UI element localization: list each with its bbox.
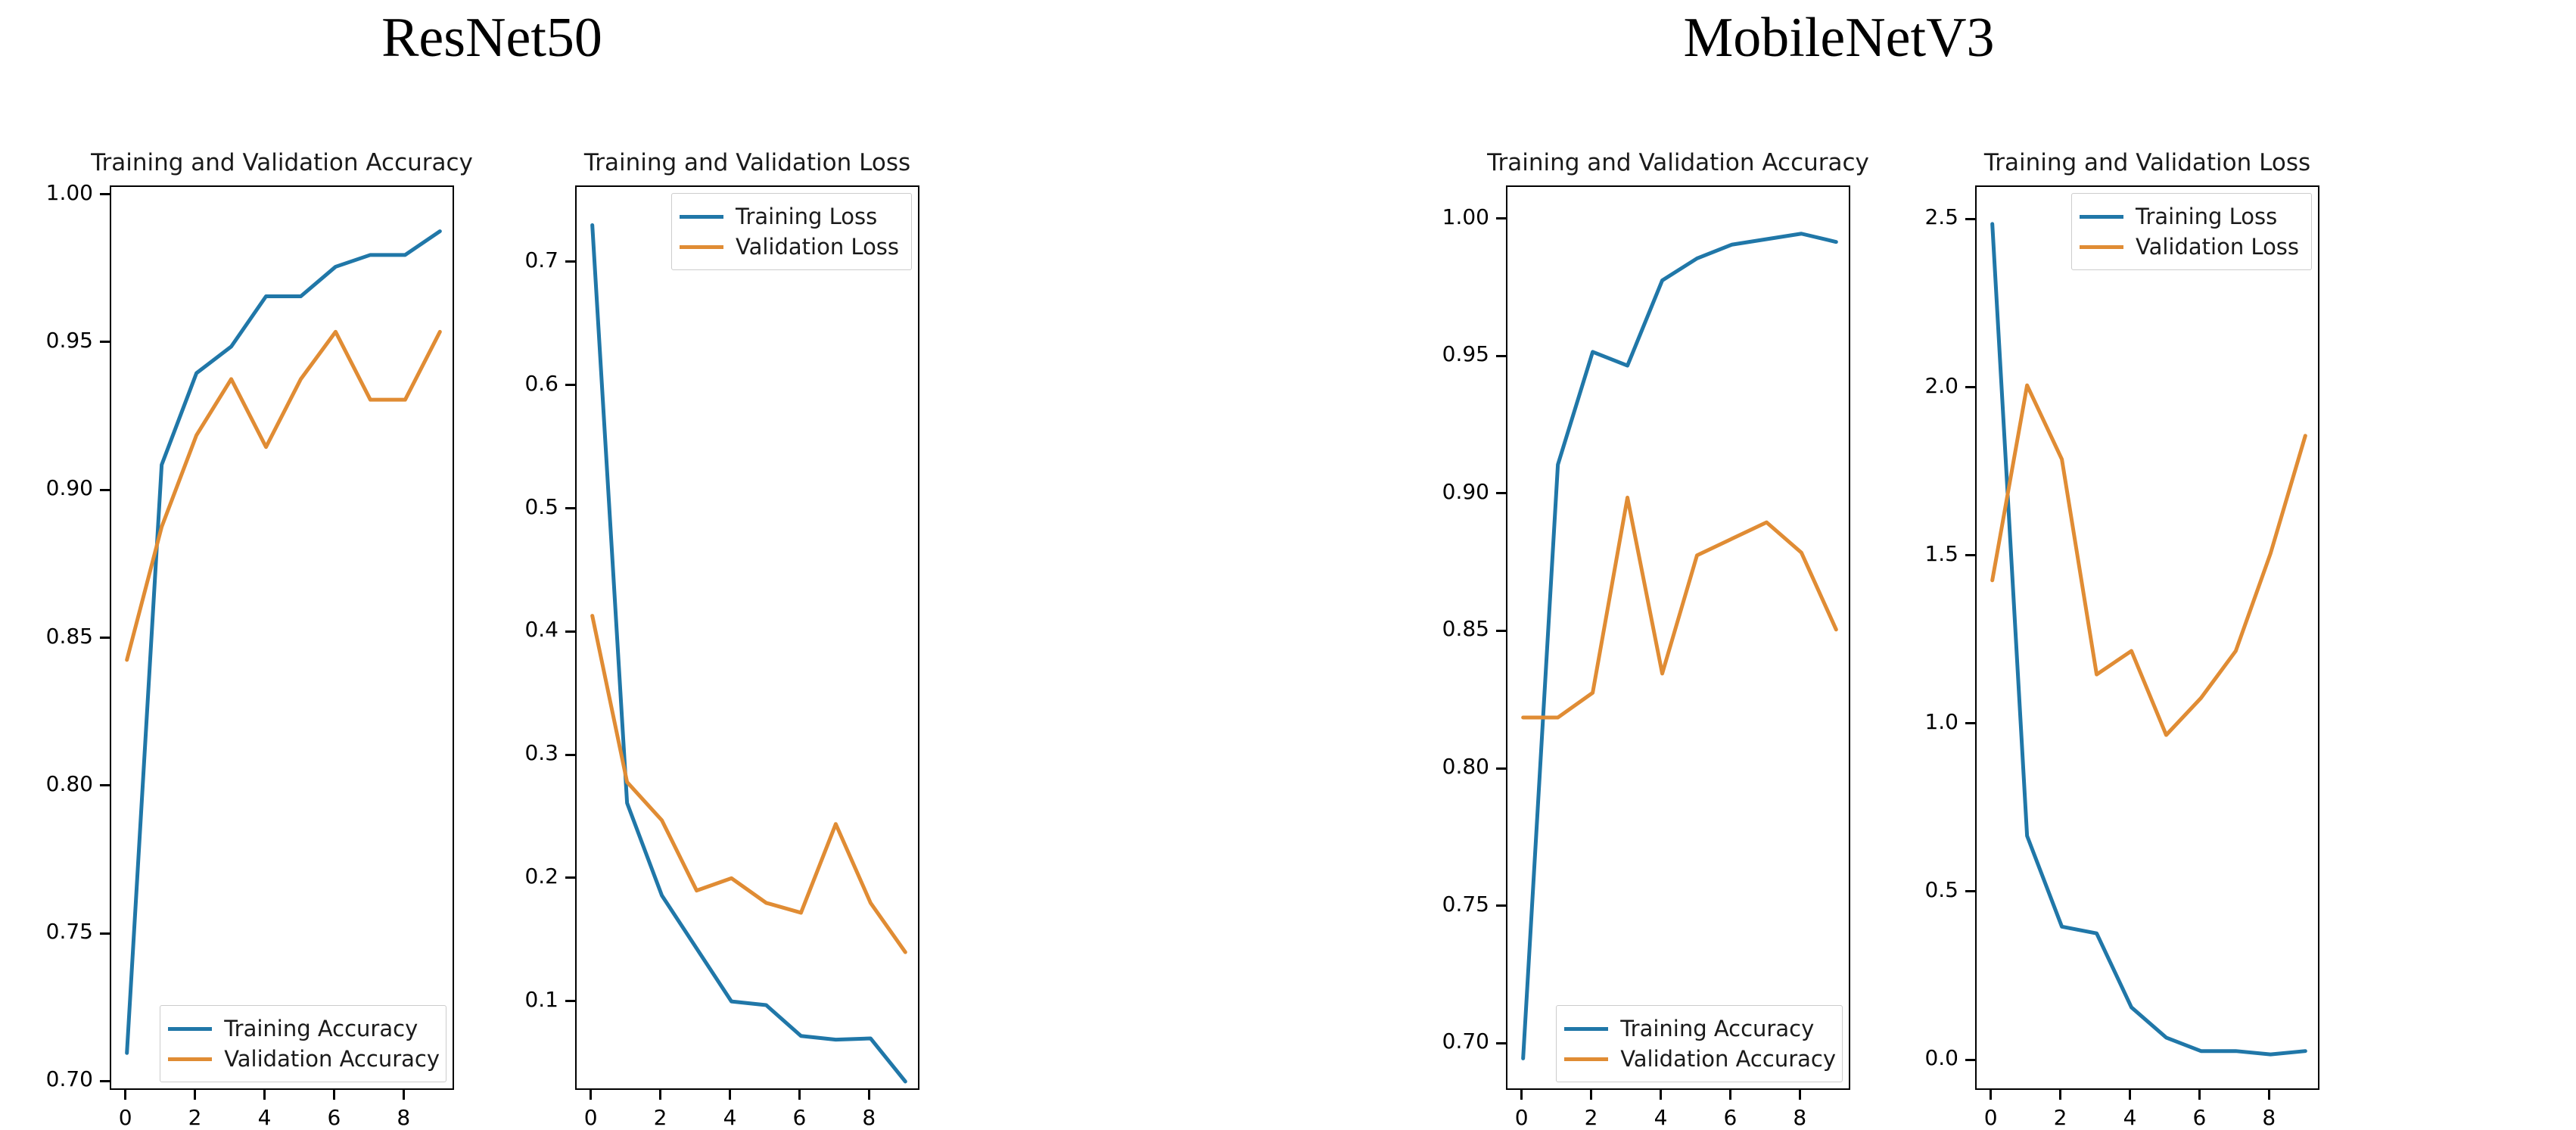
x-tick-label: 4 — [1623, 1105, 1699, 1130]
x-tickmark — [1799, 1090, 1801, 1100]
y-tick-label: 0.5 — [1854, 877, 1958, 902]
x-tick-label: 2 — [1554, 1105, 1629, 1130]
y-tick-label: 0.70 — [1385, 1029, 1489, 1054]
legend-item[interactable]: Training Accuracy — [1564, 1013, 1831, 1044]
y-tick-label: 0.90 — [1385, 479, 1489, 504]
x-tickmark — [2129, 1090, 2131, 1100]
y-tick-label: 0.75 — [0, 919, 93, 944]
legend-color-swatch-icon — [1564, 1057, 1608, 1061]
chart-legend-resnet50-accuracy[interactable]: Training AccuracyValidation Accuracy — [160, 1005, 446, 1082]
y-tick-label: 0.1 — [454, 987, 558, 1012]
y-tickmark — [565, 754, 575, 756]
y-tickmark — [100, 341, 110, 343]
legend-label: Training Loss — [2136, 204, 2277, 229]
y-tick-label: 0.80 — [1385, 754, 1489, 779]
legend-label: Validation Loss — [736, 234, 899, 260]
legend-item[interactable]: Validation Loss — [2080, 232, 2301, 262]
plot-lines-mobilenetv3-loss — [1977, 187, 2321, 1091]
series-line-training-loss — [593, 225, 906, 1082]
y-tickmark — [565, 876, 575, 879]
legend-item[interactable]: Training Accuracy — [168, 1013, 435, 1044]
y-tickmark — [100, 1080, 110, 1082]
y-tickmark — [565, 260, 575, 263]
y-tickmark — [1965, 218, 1975, 220]
x-tick-label: 2 — [623, 1105, 698, 1130]
legend-label: Training Loss — [736, 204, 877, 229]
legend-item[interactable]: Validation Accuracy — [168, 1044, 435, 1074]
x-tick-label: 6 — [761, 1105, 837, 1130]
x-tickmark — [868, 1090, 870, 1100]
x-tickmark — [1660, 1090, 1662, 1100]
series-line-training-loss — [1993, 224, 2306, 1054]
x-tickmark — [590, 1090, 592, 1100]
chart-legend-mobilenetv3-loss[interactable]: Training LossValidation Loss — [2071, 193, 2312, 270]
plot-lines-mobilenetv3-accuracy — [1507, 187, 1852, 1091]
plot-area-resnet50-loss — [575, 185, 919, 1090]
legend-label: Validation Accuracy — [224, 1046, 440, 1072]
y-tick-label: 0.85 — [1385, 616, 1489, 641]
x-tick-label: 0 — [553, 1105, 629, 1130]
chart-legend-resnet50-loss[interactable]: Training LossValidation Loss — [671, 193, 912, 270]
y-tick-label: 0.75 — [1385, 892, 1489, 917]
series-line-validation-accuracy — [1523, 497, 1837, 718]
y-tick-label: 0.4 — [454, 617, 558, 642]
legend-color-swatch-icon — [168, 1027, 212, 1031]
x-tick-label: 6 — [2161, 1105, 2237, 1130]
x-tickmark — [729, 1090, 731, 1100]
x-tickmark — [798, 1090, 801, 1100]
legend-label: Training Accuracy — [1620, 1016, 1814, 1041]
y-tickmark — [1965, 890, 1975, 892]
legend-item[interactable]: Training Loss — [680, 201, 901, 232]
chart-title-resnet50-loss: Training and Validation Loss — [492, 149, 1003, 176]
y-tickmark — [100, 932, 110, 935]
y-tickmark — [1496, 217, 1506, 219]
x-tick-label: 6 — [1692, 1105, 1768, 1130]
chart-legend-mobilenetv3-accuracy[interactable]: Training AccuracyValidation Accuracy — [1556, 1005, 1843, 1082]
series-line-validation-loss — [1993, 385, 2306, 735]
y-tick-label: 0.70 — [0, 1066, 93, 1091]
x-tickmark — [2268, 1090, 2270, 1100]
y-tickmark — [1496, 630, 1506, 632]
x-tickmark — [659, 1090, 661, 1100]
y-tick-label: 0.0 — [1854, 1045, 1958, 1070]
x-tick-label: 0 — [88, 1105, 163, 1130]
legend-label: Training Accuracy — [224, 1016, 418, 1041]
y-tick-label: 0.2 — [454, 864, 558, 889]
chart-title-mobilenetv3-loss: Training and Validation Loss — [1892, 149, 2403, 176]
chart-title-mobilenetv3-accuracy: Training and Validation Accuracy — [1423, 149, 1934, 176]
x-tickmark — [2059, 1090, 2061, 1100]
chart-title-resnet50-accuracy: Training and Validation Accuracy — [26, 149, 537, 176]
x-tickmark — [124, 1090, 126, 1100]
legend-color-swatch-icon — [680, 245, 723, 249]
y-tick-label: 2.5 — [1854, 204, 1958, 229]
y-tick-label: 0.90 — [0, 475, 93, 500]
x-tickmark — [1990, 1090, 1992, 1100]
y-tickmark — [565, 384, 575, 386]
y-tickmark — [1965, 554, 1975, 556]
legend-item[interactable]: Validation Loss — [680, 232, 901, 262]
y-tickmark — [565, 507, 575, 509]
x-tick-label: 8 — [1762, 1105, 1837, 1130]
plot-lines-resnet50-loss — [577, 187, 921, 1091]
x-tickmark — [2198, 1090, 2201, 1100]
y-tick-label: 0.7 — [454, 247, 558, 272]
figure-page: ResNet50 MobileNetV3 Training and Valida… — [0, 0, 2576, 1120]
x-tick-label: 2 — [157, 1105, 233, 1130]
y-tickmark — [1965, 1059, 1975, 1061]
y-tick-label: 1.00 — [0, 180, 93, 205]
y-tick-label: 1.00 — [1385, 204, 1489, 229]
legend-color-swatch-icon — [680, 215, 723, 219]
plot-area-mobilenetv3-accuracy — [1506, 185, 1850, 1090]
x-tick-label: 4 — [692, 1105, 768, 1130]
plot-area-mobilenetv3-loss — [1975, 185, 2319, 1090]
y-tick-label: 0.95 — [1385, 341, 1489, 366]
x-tick-label: 8 — [831, 1105, 907, 1130]
legend-color-swatch-icon — [168, 1057, 212, 1061]
x-tickmark — [1729, 1090, 1731, 1100]
model-title-mobilenetv3: MobileNetV3 — [1498, 6, 2179, 70]
model-title-resnet50: ResNet50 — [227, 6, 757, 70]
y-tickmark — [100, 637, 110, 639]
series-line-validation-accuracy — [127, 332, 440, 659]
y-tickmark — [1496, 355, 1506, 357]
y-tickmark — [1496, 492, 1506, 494]
y-tick-label: 0.85 — [0, 624, 93, 649]
legend-item[interactable]: Validation Accuracy — [1564, 1044, 1831, 1074]
x-tick-label: 4 — [227, 1105, 303, 1130]
plot-lines-resnet50-accuracy — [111, 187, 456, 1091]
legend-label: Validation Accuracy — [1620, 1046, 1836, 1072]
y-tick-label: 2.0 — [1854, 373, 1958, 398]
y-tickmark — [100, 784, 110, 786]
legend-color-swatch-icon — [2080, 245, 2123, 249]
x-tickmark — [194, 1090, 196, 1100]
y-tick-label: 1.5 — [1854, 541, 1958, 566]
y-tick-label: 0.6 — [454, 371, 558, 396]
y-tickmark — [1965, 722, 1975, 724]
y-tickmark — [100, 193, 110, 195]
y-tick-label: 0.3 — [454, 740, 558, 765]
series-line-training-accuracy — [1523, 234, 1837, 1059]
x-tick-label: 0 — [1484, 1105, 1560, 1130]
legend-color-swatch-icon — [1564, 1027, 1608, 1031]
x-tickmark — [1520, 1090, 1523, 1100]
y-tick-label: 0.95 — [0, 328, 93, 353]
series-line-training-accuracy — [127, 232, 440, 1054]
legend-item[interactable]: Training Loss — [2080, 201, 2301, 232]
y-tickmark — [100, 489, 110, 491]
x-tickmark — [403, 1090, 405, 1100]
series-line-validation-loss — [593, 616, 906, 952]
x-tick-label: 6 — [296, 1105, 372, 1130]
x-tick-label: 4 — [2092, 1105, 2168, 1130]
x-tick-label: 2 — [2023, 1105, 2098, 1130]
x-tick-label: 8 — [366, 1105, 441, 1130]
y-tickmark — [565, 630, 575, 633]
y-tickmark — [1496, 767, 1506, 770]
legend-color-swatch-icon — [2080, 215, 2123, 219]
x-tick-label: 8 — [2231, 1105, 2307, 1130]
legend-label: Validation Loss — [2136, 234, 2299, 260]
y-tick-label: 1.0 — [1854, 709, 1958, 734]
x-tickmark — [1590, 1090, 1592, 1100]
y-tickmark — [565, 1000, 575, 1002]
x-tickmark — [263, 1090, 266, 1100]
x-tickmark — [333, 1090, 335, 1100]
y-tick-label: 0.5 — [454, 494, 558, 519]
y-tickmark — [1496, 1042, 1506, 1044]
plot-area-resnet50-accuracy — [110, 185, 454, 1090]
y-tickmark — [1965, 386, 1975, 388]
y-tick-label: 0.80 — [0, 771, 93, 796]
x-tick-label: 0 — [1953, 1105, 2029, 1130]
y-tickmark — [1496, 904, 1506, 907]
